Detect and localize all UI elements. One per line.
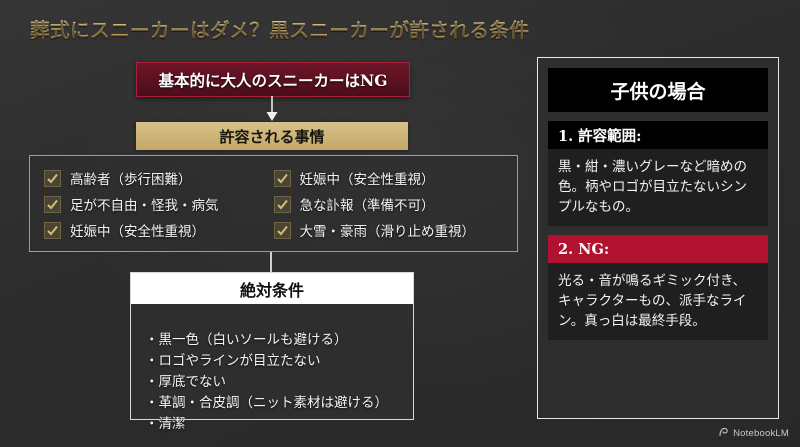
page-title: 葬式にスニーカーはダメ？黒スニーカーが許される条件 <box>30 14 560 43</box>
checkmark-icon <box>44 170 61 187</box>
allowed-cases-header: 許容される事情 <box>136 122 408 150</box>
adult-ng-box: 基本的に大人のスニーカーはNG <box>136 62 410 97</box>
children-section-allowed: 1. 許容範囲: 黒・紺・濃いグレーなど暗めの色。柄やロゴが目立たないシンプルな… <box>548 121 768 226</box>
children-panel-title: 子供の場合 <box>548 68 768 112</box>
checklist-label: 高齢者（歩行困難） <box>70 168 192 188</box>
watermark-label: NotebookLM <box>733 428 789 439</box>
children-section-ng-body: 光る・音が鳴るギミック付き、キャラクターもの、派手なライン。真っ白は最終手段。 <box>548 263 768 340</box>
list-item: 妊娠中（安全性重視） <box>44 217 274 243</box>
list-item: 妊娠中（安全性重視） <box>274 165 504 191</box>
list-item: 清潔 <box>145 413 413 434</box>
children-section-allowed-heading: 1. 許容範囲: <box>548 121 768 149</box>
checklist-label: 妊娠中（安全性重視） <box>70 220 205 240</box>
list-item: ロゴやラインが目立たない <box>145 350 413 371</box>
children-section-allowed-body: 黒・紺・濃いグレーなど暗めの色。柄やロゴが目立たないシンプルなもの。 <box>548 149 768 226</box>
arrow-down-icon <box>265 96 279 122</box>
checkmark-icon <box>274 222 291 239</box>
list-item: 厚底でない <box>145 371 413 392</box>
checkmark-icon <box>44 222 61 239</box>
checklist-label: 大雪・豪雨（滑り止め重視） <box>300 220 476 240</box>
absolute-conditions-box: 絶対条件 黒一色（白いソールも避ける） ロゴやラインが目立たない 厚底でない 革… <box>130 272 414 420</box>
allowed-cases-checklist: 高齢者（歩行困難） 足が不自由・怪我・病気 妊娠中（安全性重視） 妊娠中（安全性… <box>29 155 518 252</box>
list-item: 黒一色（白いソールも避ける） <box>145 329 413 350</box>
checklist-label: 急な訃報（準備不可） <box>300 194 435 214</box>
checklist-label: 妊娠中（安全性重視） <box>300 168 435 188</box>
adult-ng-label: 基本的に大人のスニーカーはNG <box>159 69 388 91</box>
notebooklm-logo-icon <box>719 427 729 440</box>
children-section-ng: 2. NG: 光る・音が鳴るギミック付き、キャラクターもの、派手なライン。真っ白… <box>548 235 768 340</box>
list-item: 革調・合皮調（ニット素材は避ける） <box>145 392 413 413</box>
children-panel: 子供の場合 1. 許容範囲: 黒・紺・濃いグレーなど暗めの色。柄やロゴが目立たな… <box>537 57 779 419</box>
children-panel-title-label: 子供の場合 <box>610 77 705 104</box>
children-section-ng-heading: 2. NG: <box>548 235 768 263</box>
checklist-column-right: 妊娠中（安全性重視） 急な訃報（準備不可） 大雪・豪雨（滑り止め重視） <box>274 165 504 251</box>
allowed-cases-label: 許容される事情 <box>219 126 324 147</box>
absolute-conditions-title: 絶対条件 <box>240 277 304 301</box>
watermark: NotebookLM <box>719 427 789 440</box>
list-item: 急な訃報（準備不可） <box>274 191 504 217</box>
checklist-label: 足が不自由・怪我・病気 <box>70 194 219 214</box>
list-item: 足が不自由・怪我・病気 <box>44 191 274 217</box>
list-item: 大雪・豪雨（滑り止め重視） <box>274 217 504 243</box>
checkmark-icon <box>274 170 291 187</box>
flow-connector-line <box>270 252 272 272</box>
checkmark-icon <box>274 196 291 213</box>
checklist-column-left: 高齢者（歩行困難） 足が不自由・怪我・病気 妊娠中（安全性重視） <box>44 165 274 251</box>
absolute-conditions-list: 黒一色（白いソールも避ける） ロゴやラインが目立たない 厚底でない 革調・合皮調… <box>131 320 413 434</box>
list-item: 高齢者（歩行困難） <box>44 165 274 191</box>
absolute-conditions-header: 絶対条件 <box>131 273 413 304</box>
checkmark-icon <box>44 196 61 213</box>
